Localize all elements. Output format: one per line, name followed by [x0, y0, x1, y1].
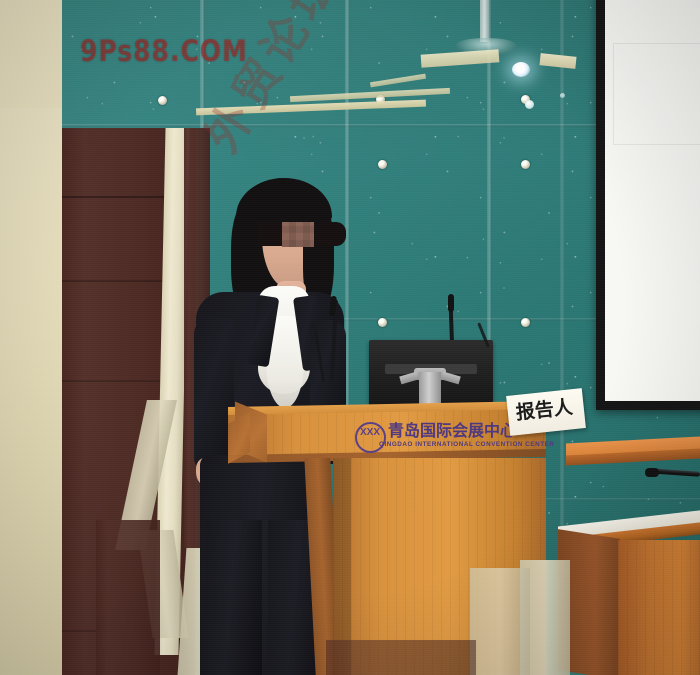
projection-screen[interactable] — [596, 0, 700, 410]
wall-seam — [0, 124, 700, 127]
ceiling-fan-light-icon — [512, 62, 530, 77]
censor-bar — [282, 222, 314, 247]
censor-bar-extension — [312, 222, 346, 246]
table-microphone-capsule — [645, 468, 659, 477]
logo-xxx-text: XXX — [360, 428, 380, 438]
censor-bar-extension — [258, 222, 282, 246]
ceiling-fan-pole — [480, 0, 489, 42]
panel-bolt — [158, 96, 167, 105]
lower-wall-panel — [470, 568, 530, 675]
venue-name-cjk: 青岛国际会展中心 — [388, 422, 516, 439]
ceiling-light-dot — [525, 100, 534, 109]
panel-bolt — [521, 318, 530, 327]
foreground-table-front — [618, 540, 700, 675]
photo-canvas: XXX 青岛国际会展中心 QINGDAO INTERNATIONAL CONVE… — [0, 0, 700, 675]
venue-name-en: QINGDAO INTERNATIONAL CONVENTION CENTER — [379, 441, 555, 449]
screen-content-box — [613, 43, 700, 145]
watermark-top: 9Ps88.COM — [80, 36, 248, 66]
speaker-name-card[interactable]: 报告人 — [506, 388, 586, 436]
dark-wood-panel — [96, 520, 160, 675]
panel-bolt — [378, 318, 387, 327]
floor-shadow — [326, 640, 476, 675]
panel-bolt — [521, 160, 530, 169]
speaker-trouser-leg-left — [206, 520, 262, 675]
speaker-name-card-label: 报告人 — [515, 395, 574, 425]
wall-mullion — [560, 0, 565, 560]
podium-microphone-secondary-capsule — [448, 294, 454, 312]
ceiling-light-dot — [560, 93, 565, 98]
table-wood-grain — [618, 540, 700, 675]
cream-wall-left-lower — [0, 108, 62, 675]
panel-bolt — [378, 160, 387, 169]
